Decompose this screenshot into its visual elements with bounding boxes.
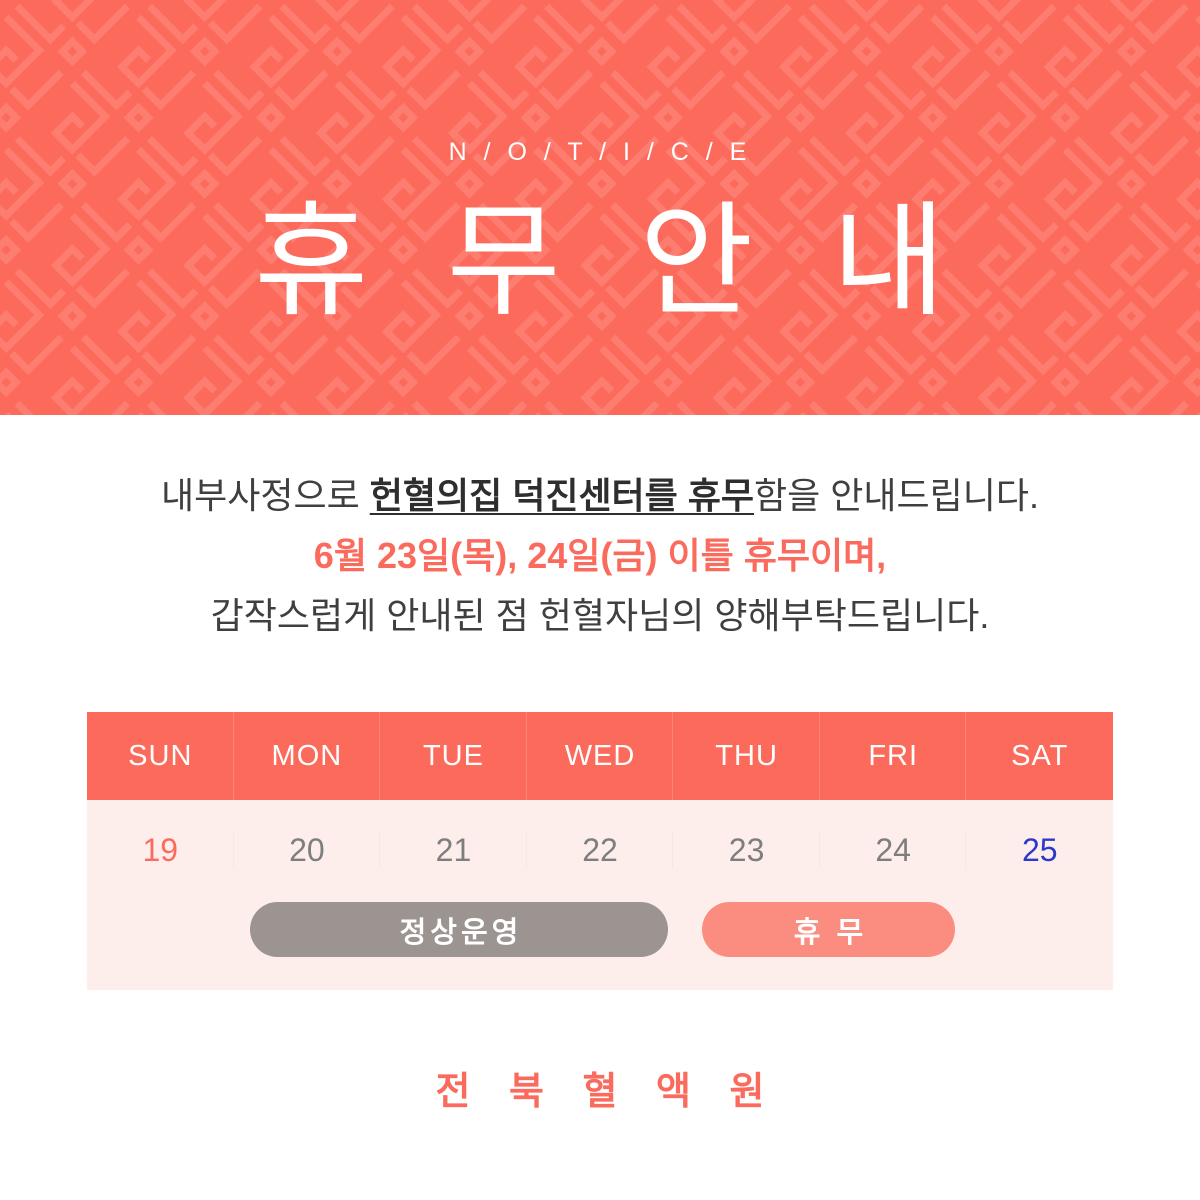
page-title: 휴 무 안 내 <box>232 197 968 327</box>
calendar-date-25: 25 <box>966 832 1113 869</box>
notice-line-1-emphasis: 헌혈의집 덕진센터를 휴무 <box>370 475 754 516</box>
notice-kicker: N / O / T / I / C / E <box>449 140 752 165</box>
header-band: N / O / T / I / C / E 휴 무 안 내 <box>0 0 1200 415</box>
status-badge-closed: 휴 무 <box>702 902 955 957</box>
notice-line-1-suffix: 함을 안내드립니다. <box>754 475 1039 516</box>
notice-line-2-dates: 6월 23일(목), 24일(금) 이틀 휴무이며, <box>0 526 1200 586</box>
organization-name: 전 북 혈 액 원 <box>421 1060 778 1115</box>
calendar-date-row: 19 20 21 22 23 24 25 <box>87 800 1113 900</box>
calendar-date-21: 21 <box>380 832 527 869</box>
calendar-date-22: 22 <box>527 832 674 869</box>
calendar-weekday-header: SUN MON TUE WED THU FRI SAT <box>87 712 1113 800</box>
calendar-date-20: 20 <box>234 832 381 869</box>
notice-body: 내부사정으로 헌혈의집 덕진센터를 휴무함을 안내드립니다. 6월 23일(목)… <box>0 466 1200 646</box>
footer: 전 북 혈 액 원 <box>0 1060 1200 1115</box>
notice-line-3-apology: 갑작스럽게 안내된 점 헌혈자님의 양해부탁드립니다. <box>0 586 1200 646</box>
weekday-header-mon: MON <box>234 712 381 800</box>
notice-line-1-prefix: 내부사정으로 <box>161 475 370 516</box>
notice-line-1: 내부사정으로 헌혈의집 덕진센터를 휴무함을 안내드립니다. <box>0 466 1200 526</box>
weekday-header-tue: TUE <box>380 712 527 800</box>
status-badge-normal-operation: 정상운영 <box>250 902 668 957</box>
weekday-header-wed: WED <box>527 712 674 800</box>
weekday-header-thu: THU <box>673 712 820 800</box>
calendar-date-19: 19 <box>87 832 234 869</box>
calendar-date-23: 23 <box>673 832 820 869</box>
weekday-header-sun: SUN <box>87 712 234 800</box>
calendar-status-bars: 정상운영 휴 무 <box>87 902 1113 962</box>
weekday-header-sat: SAT <box>966 712 1113 800</box>
calendar: SUN MON TUE WED THU FRI SAT 19 20 21 22 … <box>87 712 1113 990</box>
calendar-body: 19 20 21 22 23 24 25 정상운영 휴 무 <box>87 800 1113 990</box>
calendar-date-24: 24 <box>820 832 967 869</box>
notice-poster: N / O / T / I / C / E 휴 무 안 내 내부사정으로 헌혈의… <box>0 0 1200 1200</box>
weekday-header-fri: FRI <box>820 712 967 800</box>
